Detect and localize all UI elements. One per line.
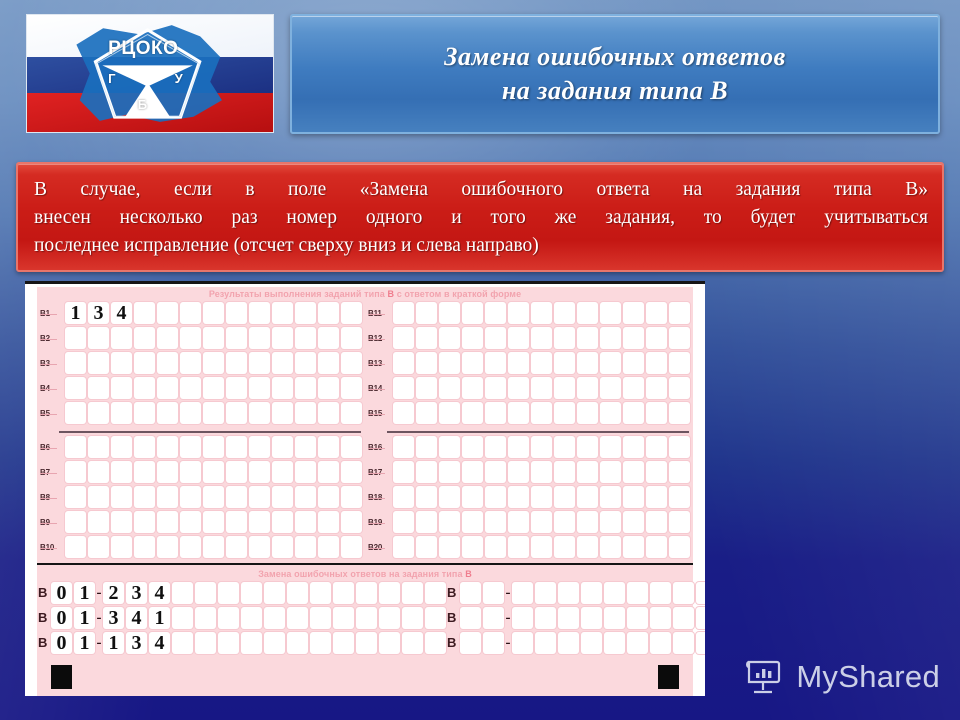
answer-cell[interactable]	[318, 377, 339, 399]
answer-cell[interactable]	[623, 352, 644, 374]
answer-cell[interactable]	[577, 436, 598, 458]
answer-cell[interactable]	[646, 327, 667, 349]
answer-cell[interactable]	[295, 536, 316, 558]
answer-cell[interactable]	[416, 511, 437, 533]
answer-cell[interactable]	[249, 436, 270, 458]
answer-cell[interactable]	[531, 352, 552, 374]
answer-cell[interactable]	[264, 607, 285, 629]
answer-cell[interactable]: 1	[74, 632, 95, 654]
answer-cell[interactable]	[393, 436, 414, 458]
answer-cell[interactable]	[272, 436, 293, 458]
answer-cell[interactable]	[393, 402, 414, 424]
answer-cell[interactable]	[65, 536, 86, 558]
answer-cell[interactable]: 4	[149, 632, 170, 654]
answer-cell[interactable]	[226, 461, 247, 483]
answer-cell[interactable]	[393, 377, 414, 399]
answer-cell[interactable]: 1	[65, 302, 86, 324]
answer-cell[interactable]	[462, 352, 483, 374]
answer-cell[interactable]	[581, 582, 602, 604]
answer-cell[interactable]	[249, 377, 270, 399]
answer-cell[interactable]	[558, 582, 579, 604]
answer-cell[interactable]	[623, 536, 644, 558]
answer-cell[interactable]	[249, 352, 270, 374]
answer-cell[interactable]	[646, 536, 667, 558]
answer-cell[interactable]	[318, 402, 339, 424]
answer-cell[interactable]	[604, 632, 625, 654]
answer-cell[interactable]	[65, 402, 86, 424]
answer-cell[interactable]	[241, 632, 262, 654]
answer-cell[interactable]	[341, 402, 362, 424]
answer-cell[interactable]	[646, 436, 667, 458]
answer-cell[interactable]	[249, 486, 270, 508]
answer-cell[interactable]	[646, 377, 667, 399]
answer-cell[interactable]	[439, 436, 460, 458]
answer-cell[interactable]	[669, 536, 690, 558]
answer-cell[interactable]	[460, 582, 481, 604]
answer-cell[interactable]	[88, 536, 109, 558]
answer-cell[interactable]	[462, 377, 483, 399]
answer-cell[interactable]	[485, 402, 506, 424]
answer-cell[interactable]	[203, 486, 224, 508]
answer-cell[interactable]	[134, 302, 155, 324]
answer-cell[interactable]	[508, 327, 529, 349]
answer-cell[interactable]	[531, 461, 552, 483]
answer-cell[interactable]	[554, 377, 575, 399]
answer-cell[interactable]	[88, 511, 109, 533]
answer-cell[interactable]	[393, 511, 414, 533]
answer-cell[interactable]	[180, 461, 201, 483]
answer-cell[interactable]	[88, 461, 109, 483]
answer-cell[interactable]	[111, 486, 132, 508]
answer-cell[interactable]	[134, 436, 155, 458]
answer-cell[interactable]	[554, 536, 575, 558]
answer-cell[interactable]	[203, 302, 224, 324]
answer-cell[interactable]	[531, 402, 552, 424]
answer-cell[interactable]	[483, 607, 504, 629]
answer-cell[interactable]	[485, 536, 506, 558]
answer-cell[interactable]	[134, 461, 155, 483]
answer-cell[interactable]	[88, 377, 109, 399]
answer-cell[interactable]	[425, 607, 446, 629]
answer-cell[interactable]	[226, 511, 247, 533]
answer-cell[interactable]	[157, 402, 178, 424]
answer-cell[interactable]	[416, 536, 437, 558]
answer-cell[interactable]	[462, 436, 483, 458]
answer-cell[interactable]	[310, 632, 331, 654]
answer-cell[interactable]	[558, 632, 579, 654]
answer-cell[interactable]	[333, 607, 354, 629]
answer-cell[interactable]	[439, 486, 460, 508]
answer-cell[interactable]	[669, 486, 690, 508]
answer-cell[interactable]	[508, 461, 529, 483]
answer-cell[interactable]	[627, 632, 648, 654]
answer-cell[interactable]	[226, 352, 247, 374]
answer-cell[interactable]	[65, 436, 86, 458]
answer-cell[interactable]	[356, 632, 377, 654]
answer-cell[interactable]	[157, 511, 178, 533]
answer-cell[interactable]	[485, 327, 506, 349]
answer-cell[interactable]	[180, 511, 201, 533]
answer-cell[interactable]	[134, 402, 155, 424]
answer-cell[interactable]	[669, 327, 690, 349]
answer-cell[interactable]	[180, 327, 201, 349]
answer-cell[interactable]	[249, 327, 270, 349]
answer-cell[interactable]	[483, 632, 504, 654]
answer-cell[interactable]	[669, 352, 690, 374]
answer-cell[interactable]	[623, 486, 644, 508]
answer-cell[interactable]: 0	[51, 607, 72, 629]
answer-cell[interactable]	[111, 327, 132, 349]
answer-cell[interactable]	[439, 327, 460, 349]
answer-cell[interactable]	[485, 352, 506, 374]
answer-cell[interactable]	[226, 486, 247, 508]
answer-cell[interactable]	[341, 327, 362, 349]
answer-cell[interactable]	[218, 582, 239, 604]
answer-cell[interactable]	[485, 377, 506, 399]
answer-cell[interactable]	[600, 302, 621, 324]
answer-cell[interactable]	[157, 377, 178, 399]
answer-cell[interactable]	[554, 511, 575, 533]
answer-cell[interactable]	[249, 536, 270, 558]
answer-cell[interactable]	[295, 327, 316, 349]
answer-cell[interactable]	[462, 461, 483, 483]
answer-cell[interactable]: 3	[88, 302, 109, 324]
answer-cell[interactable]: 1	[74, 582, 95, 604]
answer-cell[interactable]	[341, 352, 362, 374]
answer-cell[interactable]	[287, 582, 308, 604]
answer-cell[interactable]	[134, 352, 155, 374]
answer-cell[interactable]	[65, 377, 86, 399]
answer-cell[interactable]	[249, 402, 270, 424]
answer-cell[interactable]	[535, 632, 556, 654]
answer-cell[interactable]	[65, 511, 86, 533]
answer-cell[interactable]	[203, 402, 224, 424]
answer-cell[interactable]	[623, 327, 644, 349]
answer-cell[interactable]	[172, 632, 193, 654]
answer-cell[interactable]	[287, 632, 308, 654]
answer-cell[interactable]	[341, 536, 362, 558]
answer-cell[interactable]	[134, 511, 155, 533]
answer-cell[interactable]	[508, 536, 529, 558]
answer-cell[interactable]	[646, 461, 667, 483]
answer-cell[interactable]	[264, 632, 285, 654]
answer-cell[interactable]	[356, 607, 377, 629]
answer-cell[interactable]	[157, 436, 178, 458]
answer-cell[interactable]	[460, 632, 481, 654]
answer-cell[interactable]	[272, 377, 293, 399]
answer-cell[interactable]	[295, 302, 316, 324]
answer-cell[interactable]	[226, 402, 247, 424]
answer-cell[interactable]	[157, 327, 178, 349]
answer-cell[interactable]	[535, 607, 556, 629]
answer-cell[interactable]	[485, 511, 506, 533]
answer-cell[interactable]	[111, 511, 132, 533]
answer-cell[interactable]	[379, 607, 400, 629]
answer-cell[interactable]	[696, 632, 705, 654]
answer-cell[interactable]	[600, 461, 621, 483]
answer-cell[interactable]	[318, 436, 339, 458]
answer-cell[interactable]	[226, 436, 247, 458]
answer-cell[interactable]	[416, 436, 437, 458]
answer-cell[interactable]	[508, 486, 529, 508]
answer-cell[interactable]	[272, 327, 293, 349]
answer-cell[interactable]	[65, 352, 86, 374]
answer-cell[interactable]	[341, 461, 362, 483]
answer-cell[interactable]	[600, 536, 621, 558]
answer-cell[interactable]	[65, 327, 86, 349]
answer-cell[interactable]	[180, 486, 201, 508]
answer-cell[interactable]	[65, 486, 86, 508]
answer-cell[interactable]	[646, 511, 667, 533]
answer-cell[interactable]	[627, 607, 648, 629]
answer-cell[interactable]	[623, 436, 644, 458]
answer-cell[interactable]	[669, 436, 690, 458]
answer-cell[interactable]	[600, 377, 621, 399]
answer-cell[interactable]: 0	[51, 632, 72, 654]
answer-cell[interactable]	[241, 607, 262, 629]
answer-cell[interactable]	[623, 302, 644, 324]
answer-cell[interactable]	[203, 352, 224, 374]
answer-cell[interactable]	[180, 302, 201, 324]
answer-cell[interactable]	[485, 302, 506, 324]
answer-cell[interactable]	[157, 302, 178, 324]
answer-cell[interactable]	[669, 402, 690, 424]
answer-cell[interactable]	[318, 511, 339, 533]
answer-cell[interactable]	[508, 436, 529, 458]
answer-cell[interactable]	[180, 436, 201, 458]
answer-cell[interactable]	[460, 607, 481, 629]
answer-cell[interactable]	[203, 377, 224, 399]
answer-cell[interactable]	[272, 511, 293, 533]
answer-cell[interactable]	[600, 352, 621, 374]
answer-cell[interactable]	[554, 461, 575, 483]
answer-cell[interactable]	[508, 402, 529, 424]
answer-cell[interactable]	[646, 486, 667, 508]
answer-cell[interactable]	[333, 632, 354, 654]
answer-cell[interactable]	[249, 461, 270, 483]
answer-cell[interactable]	[318, 327, 339, 349]
answer-cell[interactable]	[604, 582, 625, 604]
answer-cell[interactable]	[439, 302, 460, 324]
answer-cell[interactable]	[673, 582, 694, 604]
answer-cell[interactable]	[673, 632, 694, 654]
answer-cell[interactable]	[393, 461, 414, 483]
answer-cell[interactable]	[577, 352, 598, 374]
answer-cell[interactable]	[318, 536, 339, 558]
answer-cell[interactable]	[402, 607, 423, 629]
answer-cell[interactable]: 1	[103, 632, 124, 654]
answer-cell[interactable]	[88, 402, 109, 424]
answer-cell[interactable]	[111, 352, 132, 374]
answer-cell[interactable]	[295, 436, 316, 458]
answer-cell[interactable]	[203, 461, 224, 483]
answer-cell[interactable]	[554, 486, 575, 508]
answer-cell[interactable]	[623, 461, 644, 483]
answer-cell[interactable]	[673, 607, 694, 629]
answer-cell[interactable]	[180, 377, 201, 399]
answer-cell[interactable]	[531, 302, 552, 324]
answer-cell[interactable]	[577, 402, 598, 424]
answer-cell[interactable]	[416, 486, 437, 508]
answer-cell[interactable]	[439, 377, 460, 399]
answer-cell[interactable]	[604, 607, 625, 629]
answer-cell[interactable]	[508, 377, 529, 399]
answer-cell[interactable]	[554, 352, 575, 374]
answer-cell[interactable]	[462, 536, 483, 558]
answer-cell[interactable]	[577, 511, 598, 533]
answer-cell[interactable]	[512, 632, 533, 654]
answer-cell[interactable]	[577, 461, 598, 483]
answer-cell[interactable]	[226, 327, 247, 349]
answer-cell[interactable]	[218, 632, 239, 654]
answer-cell[interactable]	[295, 511, 316, 533]
answer-cell[interactable]	[402, 632, 423, 654]
answer-cell[interactable]: 3	[103, 607, 124, 629]
answer-cell[interactable]	[696, 607, 705, 629]
answer-cell[interactable]	[295, 486, 316, 508]
answer-cell[interactable]	[627, 582, 648, 604]
answer-cell[interactable]	[669, 302, 690, 324]
answer-cell[interactable]	[393, 486, 414, 508]
answer-cell[interactable]	[554, 436, 575, 458]
answer-cell[interactable]	[650, 582, 671, 604]
answer-cell[interactable]	[462, 402, 483, 424]
answer-cell[interactable]	[318, 461, 339, 483]
answer-cell[interactable]	[531, 511, 552, 533]
answer-cell[interactable]	[333, 582, 354, 604]
answer-cell[interactable]	[577, 302, 598, 324]
answer-cell[interactable]	[157, 352, 178, 374]
answer-cell[interactable]	[581, 607, 602, 629]
answer-cell[interactable]	[134, 486, 155, 508]
answer-cell[interactable]	[669, 461, 690, 483]
answer-cell[interactable]	[356, 582, 377, 604]
answer-cell[interactable]	[65, 461, 86, 483]
answer-cell[interactable]	[111, 377, 132, 399]
answer-cell[interactable]: 1	[149, 607, 170, 629]
answer-cell[interactable]	[416, 377, 437, 399]
answer-cell[interactable]	[272, 461, 293, 483]
answer-cell[interactable]	[341, 511, 362, 533]
answer-cell[interactable]	[88, 352, 109, 374]
answer-cell[interactable]	[462, 327, 483, 349]
answer-cell[interactable]: 3	[126, 582, 147, 604]
answer-cell[interactable]	[318, 352, 339, 374]
answer-cell[interactable]	[195, 607, 216, 629]
answer-cell[interactable]	[531, 486, 552, 508]
answer-cell[interactable]	[287, 607, 308, 629]
answer-cell[interactable]	[669, 377, 690, 399]
answer-cell[interactable]	[172, 607, 193, 629]
answer-cell[interactable]	[531, 436, 552, 458]
answer-cell[interactable]	[295, 352, 316, 374]
answer-cell[interactable]: 4	[149, 582, 170, 604]
answer-cell[interactable]	[88, 486, 109, 508]
answer-cell[interactable]	[600, 327, 621, 349]
answer-cell[interactable]	[485, 461, 506, 483]
answer-cell[interactable]	[272, 302, 293, 324]
answer-cell[interactable]	[581, 632, 602, 654]
answer-cell[interactable]	[535, 582, 556, 604]
answer-cell[interactable]	[512, 607, 533, 629]
answer-cell[interactable]	[393, 352, 414, 374]
answer-cell[interactable]	[318, 302, 339, 324]
answer-cell[interactable]	[462, 302, 483, 324]
answer-cell[interactable]	[600, 486, 621, 508]
answer-cell[interactable]	[462, 511, 483, 533]
answer-cell[interactable]	[531, 536, 552, 558]
answer-cell[interactable]	[272, 536, 293, 558]
answer-cell[interactable]	[172, 582, 193, 604]
answer-cell[interactable]	[226, 377, 247, 399]
answer-cell[interactable]: 3	[126, 632, 147, 654]
answer-cell[interactable]	[554, 327, 575, 349]
answer-cell[interactable]	[393, 302, 414, 324]
answer-cell[interactable]	[650, 607, 671, 629]
answer-cell[interactable]	[249, 511, 270, 533]
answer-cell[interactable]	[310, 582, 331, 604]
answer-cell[interactable]	[180, 536, 201, 558]
answer-cell[interactable]	[295, 402, 316, 424]
answer-cell[interactable]	[646, 352, 667, 374]
answer-cell[interactable]: 4	[126, 607, 147, 629]
answer-cell[interactable]	[134, 327, 155, 349]
answer-cell[interactable]	[203, 511, 224, 533]
answer-cell[interactable]	[600, 436, 621, 458]
answer-cell[interactable]	[646, 302, 667, 324]
answer-cell[interactable]: 0	[51, 582, 72, 604]
answer-cell[interactable]	[393, 327, 414, 349]
answer-cell[interactable]	[554, 302, 575, 324]
answer-cell[interactable]	[508, 511, 529, 533]
answer-cell[interactable]	[425, 632, 446, 654]
answer-cell[interactable]	[485, 436, 506, 458]
answer-cell[interactable]	[646, 402, 667, 424]
answer-cell[interactable]	[264, 582, 285, 604]
answer-cell[interactable]	[416, 327, 437, 349]
answer-cell[interactable]	[218, 607, 239, 629]
answer-cell[interactable]	[531, 377, 552, 399]
answer-cell[interactable]	[416, 461, 437, 483]
answer-cell[interactable]	[483, 582, 504, 604]
answer-cell[interactable]	[393, 536, 414, 558]
answer-cell[interactable]	[512, 582, 533, 604]
answer-cell[interactable]	[295, 377, 316, 399]
answer-cell[interactable]	[341, 436, 362, 458]
answer-cell[interactable]	[249, 302, 270, 324]
answer-cell[interactable]	[379, 582, 400, 604]
answer-cell[interactable]	[402, 582, 423, 604]
answer-cell[interactable]	[416, 352, 437, 374]
answer-cell[interactable]	[195, 582, 216, 604]
answer-cell[interactable]	[310, 607, 331, 629]
answer-cell[interactable]	[600, 511, 621, 533]
answer-cell[interactable]	[272, 402, 293, 424]
answer-cell[interactable]	[318, 486, 339, 508]
answer-cell[interactable]	[111, 461, 132, 483]
answer-cell[interactable]	[462, 486, 483, 508]
answer-cell[interactable]	[439, 461, 460, 483]
answer-cell[interactable]	[577, 327, 598, 349]
answer-cell[interactable]	[241, 582, 262, 604]
answer-cell[interactable]	[134, 377, 155, 399]
answer-cell[interactable]	[226, 302, 247, 324]
answer-cell[interactable]	[439, 511, 460, 533]
answer-cell[interactable]	[577, 486, 598, 508]
answer-cell[interactable]	[111, 536, 132, 558]
answer-cell[interactable]	[111, 436, 132, 458]
answer-cell[interactable]	[508, 352, 529, 374]
